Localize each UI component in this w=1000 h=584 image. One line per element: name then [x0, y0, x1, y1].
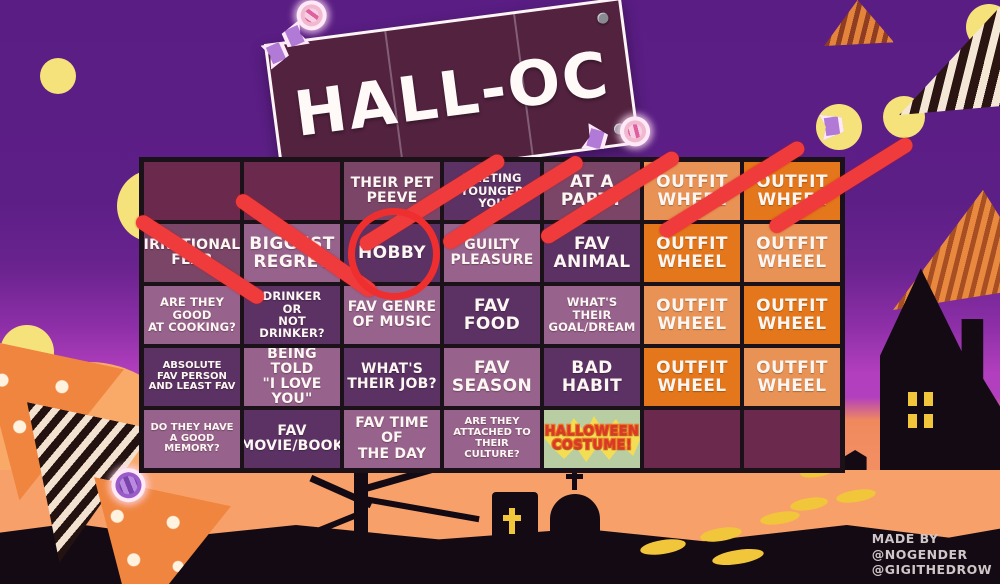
bingo-cell[interactable]: FAV GENREOF MUSIC: [344, 286, 440, 344]
halloween-bingo-card: HALL-OC THEIR PETPEEVEMEETINGYOUNGERYOUA…: [0, 0, 1000, 584]
bingo-cell[interactable]: MEETINGYOUNGERYOU: [444, 162, 540, 220]
bingo-cell-label: FAVMOVIE/BOOK: [244, 424, 340, 454]
bingo-cell-label: GUILTYPLEASURE: [451, 238, 534, 268]
bingo-cell-label: ARE THEYGOODAT COOKING?: [148, 296, 236, 333]
bingo-cell-empty[interactable]: [744, 410, 840, 468]
bingo-cell[interactable]: DO THEY HAVEA GOODMEMORY?: [144, 410, 240, 468]
house-window: [908, 414, 917, 428]
bingo-cell-label: OUTFITWHEEL: [756, 173, 828, 210]
bingo-cell[interactable]: THEIR PETPEEVE: [344, 162, 440, 220]
house-window: [924, 414, 933, 428]
bingo-cell-label: ABSOLUTEFAV PERSONAND LEAST FAV: [149, 361, 236, 393]
bingo-cell-label: THEIR PETPEEVE: [351, 176, 434, 206]
bingo-cell-label: OUTFITWHEEL: [656, 359, 728, 396]
bingo-cell[interactable]: HALLOWEENCOSTUME!: [544, 410, 640, 468]
bingo-cell[interactable]: BIGGESTREGRET: [244, 224, 340, 282]
bingo-cell-label: ARE THEYATTACHED TOTHEIR CULTURE?: [447, 417, 537, 460]
bingo-cell[interactable]: OUTFITWHEEL: [644, 286, 740, 344]
bingo-cell[interactable]: AT APARTY: [544, 162, 640, 220]
bingo-cell-label: IRRATIONALFEAR: [144, 238, 240, 268]
bingo-cell[interactable]: FAVSEASON: [444, 348, 540, 406]
bingo-cell-label: MEETINGYOUNGERYOU: [460, 172, 524, 209]
bingo-cell[interactable]: FAVANIMAL: [544, 224, 640, 282]
bingo-cell-label: FAV GENREOF MUSIC: [348, 300, 436, 330]
tombstone: [492, 492, 538, 574]
bingo-cell-label: WHAT'STHEIR JOB?: [347, 362, 437, 392]
credits-line: @GIGITHEDROW: [872, 562, 992, 578]
tombstone-cross: [566, 474, 583, 479]
bingo-cell[interactable]: DRINKERORNOT DRINKER?: [244, 286, 340, 344]
tombstone-cross: [503, 515, 521, 521]
bingo-cell-label: FAVSEASON: [452, 359, 532, 396]
bingo-cell-empty[interactable]: [644, 410, 740, 468]
bingo-cell-label: FAVFOOD: [464, 297, 520, 334]
bingo-cell[interactable]: WHAT'STHEIR JOB?: [344, 348, 440, 406]
bingo-cell[interactable]: OUTFITWHEEL: [644, 224, 740, 282]
tombstone-cross: [509, 508, 515, 534]
moon-orb: [40, 58, 76, 94]
bingo-cell[interactable]: ABSOLUTEFAV PERSONAND LEAST FAV: [144, 348, 240, 406]
house-window: [908, 392, 917, 406]
bingo-cell[interactable]: OUTFITWHEEL: [744, 286, 840, 344]
bingo-cell-label: BEING TOLD"I LOVE YOU": [247, 348, 337, 406]
house-window: [924, 392, 933, 406]
bingo-cell[interactable]: HOBBY: [344, 224, 440, 282]
bingo-cell-label: DO THEY HAVEA GOODMEMORY?: [150, 423, 233, 455]
bingo-cell-label: HOBBY: [358, 244, 426, 262]
bingo-cell[interactable]: ARE THEYGOODAT COOKING?: [144, 286, 240, 344]
bingo-cell[interactable]: IRRATIONALFEAR: [144, 224, 240, 282]
bingo-cell[interactable]: WHAT'STHEIRGOAL/DREAM: [544, 286, 640, 344]
bingo-cell-label: OUTFITWHEEL: [656, 173, 728, 210]
bingo-cell[interactable]: BADHABIT: [544, 348, 640, 406]
page-title: HALL-OC: [272, 35, 632, 154]
credits: MADE BY @NOGENDER @GIGITHEDROW: [872, 531, 992, 578]
bingo-cell[interactable]: OUTFITWHEEL: [644, 348, 740, 406]
bingo-cell-label: WHAT'STHEIRGOAL/DREAM: [549, 296, 636, 333]
bingo-cell-label: OUTFITWHEEL: [656, 235, 728, 272]
bingo-cell[interactable]: BEING TOLD"I LOVE YOU": [244, 348, 340, 406]
bingo-cell-empty[interactable]: [244, 162, 340, 220]
credits-line: MADE BY: [872, 531, 992, 547]
bingo-cell-label: HALLOWEENCOSTUME!: [545, 425, 640, 452]
bingo-cell-label: FAV TIME OFTHE DAY: [347, 416, 437, 461]
bingo-cell[interactable]: FAVFOOD: [444, 286, 540, 344]
bingo-cell[interactable]: FAV TIME OFTHE DAY: [344, 410, 440, 468]
bingo-cell-label: DRINKERORNOT DRINKER?: [247, 290, 337, 340]
bingo-cell[interactable]: OUTFITWHEEL: [744, 162, 840, 220]
bingo-cell[interactable]: OUTFITWHEEL: [744, 224, 840, 282]
bingo-cell-label: OUTFITWHEEL: [756, 359, 828, 396]
bingo-cell-label: FAVANIMAL: [553, 235, 630, 272]
bingo-cell[interactable]: OUTFITWHEEL: [644, 162, 740, 220]
bingo-cell-label: BIGGESTREGRET: [249, 235, 334, 272]
bingo-cell[interactable]: FAVMOVIE/BOOK: [244, 410, 340, 468]
bingo-cell[interactable]: GUILTYPLEASURE: [444, 224, 540, 282]
bingo-cell-empty[interactable]: [144, 162, 240, 220]
credits-line: @NOGENDER: [872, 547, 992, 563]
bingo-cell[interactable]: OUTFITWHEEL: [744, 348, 840, 406]
bingo-grid: THEIR PETPEEVEMEETINGYOUNGERYOUAT APARTY…: [139, 157, 845, 473]
tombstone: [550, 494, 600, 574]
bingo-cell-label: OUTFITWHEEL: [756, 297, 828, 334]
bingo-cell-label: OUTFITWHEEL: [756, 235, 828, 272]
bingo-cell-label: BADHABIT: [562, 359, 622, 396]
bingo-cell[interactable]: ARE THEYATTACHED TOTHEIR CULTURE?: [444, 410, 540, 468]
bingo-cell-label: OUTFITWHEEL: [656, 297, 728, 334]
bingo-cell-label: AT APARTY: [561, 173, 623, 210]
